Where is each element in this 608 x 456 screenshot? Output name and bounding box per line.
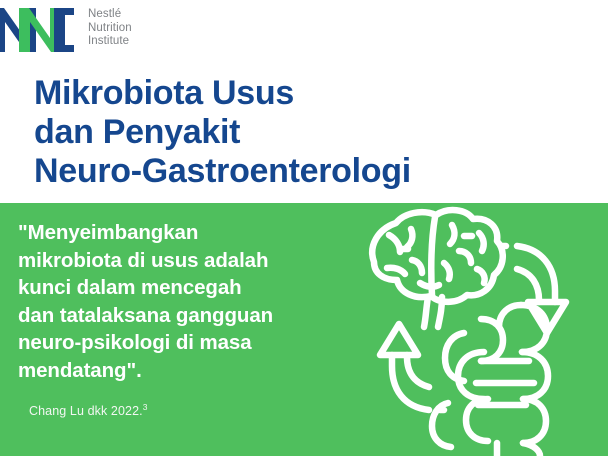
brand-logo: Nestlé Nutrition Institute <box>0 4 132 56</box>
citation: Chang Lu dkk 2022.3 <box>29 402 148 418</box>
arrow-down-right-icon <box>502 246 566 333</box>
arrow-up-left-icon <box>380 324 444 410</box>
intestine-icon <box>432 305 548 456</box>
nni-monogram-icon <box>0 4 78 56</box>
page-title: Mikrobiota Usus dan Penyakit Neuro-Gastr… <box>34 74 594 191</box>
gut-brain-axis-illustration <box>356 205 608 456</box>
citation-text: Chang Lu dkk 2022. <box>29 404 143 418</box>
quote-panel: "Menyeimbangkan mikrobiota di usus adala… <box>0 203 608 456</box>
brain-icon <box>372 210 502 327</box>
brand-wordmark: Nestlé Nutrition Institute <box>88 8 132 49</box>
quote-text: "Menyeimbangkan mikrobiota di usus adala… <box>18 219 348 384</box>
citation-superscript: 3 <box>143 402 148 412</box>
slide-canvas: Nestlé Nutrition Institute Mikrobiota Us… <box>0 0 608 456</box>
